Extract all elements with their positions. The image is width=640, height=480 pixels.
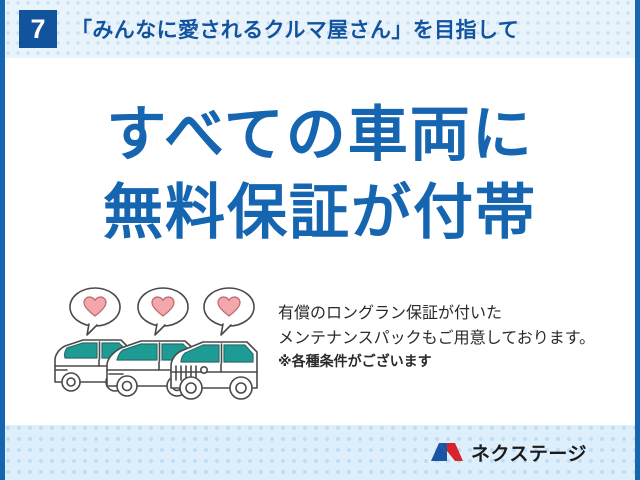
brand-name: ネクステージ — [471, 439, 587, 466]
section-number-badge: 7 — [19, 10, 57, 48]
copy-block: 有償のロングラン保証が付いた メンテナンスパックもご用意しております。 ※各種条… — [278, 286, 635, 374]
brand-lockup: ネクステージ — [430, 439, 587, 466]
nextage-n-logo-icon — [430, 440, 464, 465]
copy-line-2: メンテナンスパックもご用意しております。 — [278, 325, 635, 350]
warranty-banner: 7 「みんなに愛されるクルマ屋さん」を目指して すべての車両に 無料保証が付帯 — [0, 0, 640, 480]
header-band: 7 「みんなに愛されるクルマ屋さん」を目指して — [5, 0, 635, 58]
headline-line-1: すべての車両に — [5, 96, 635, 174]
cars-illustration-svg — [43, 286, 268, 401]
content-row: 有償のロングラン保証が付いた メンテナンスパックもご用意しております。 ※各種条… — [5, 286, 635, 406]
header-title: 「みんなに愛されるクルマ屋さん」を目指して — [71, 14, 635, 44]
car-suv — [171, 342, 257, 399]
copy-line-1: 有償のロングラン保証が付いた — [278, 300, 635, 325]
headline-line-2: 無料保証が付帯 — [5, 174, 635, 252]
cars-illustration — [43, 286, 268, 401]
heart-bubble-1 — [70, 288, 120, 335]
copy-note: ※各種条件がございます — [278, 350, 635, 374]
headline: すべての車両に 無料保証が付帯 — [5, 96, 635, 252]
heart-bubble-3 — [204, 288, 254, 335]
footer-band: ネクステージ — [5, 425, 635, 480]
heart-bubble-2 — [138, 288, 188, 335]
